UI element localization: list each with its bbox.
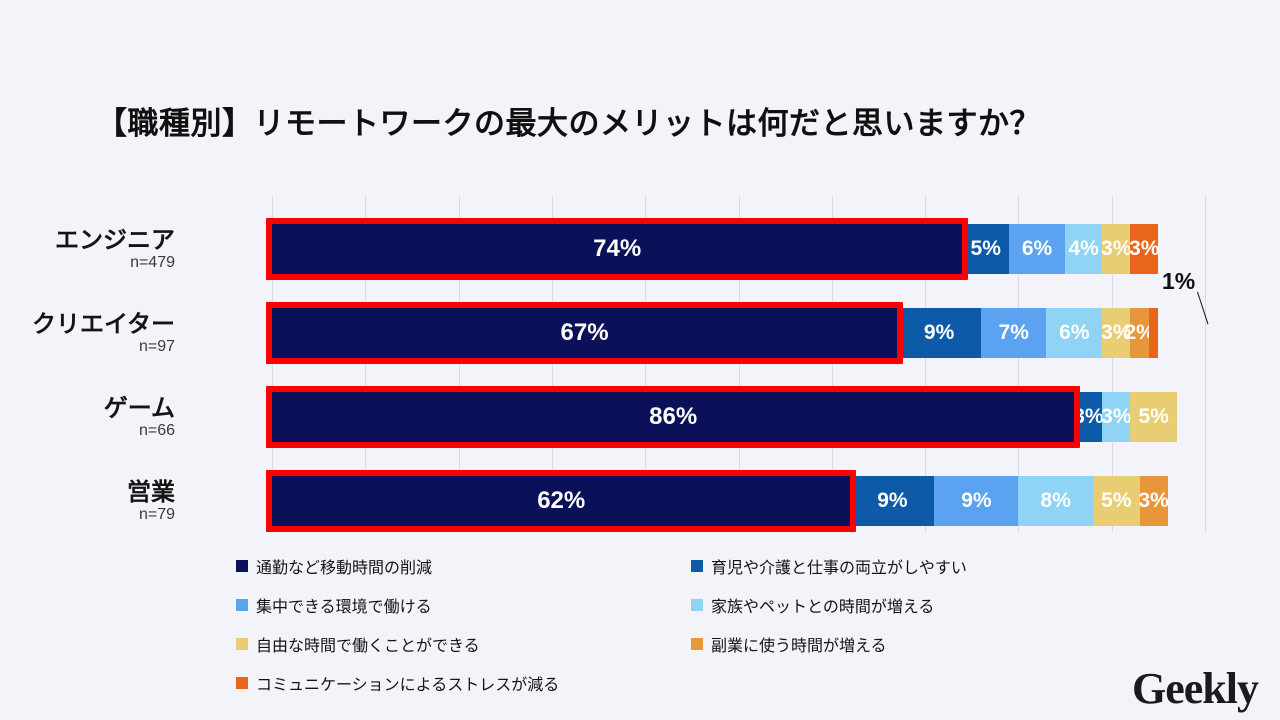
legend-item-family[interactable]: 家族やペットとの時間が増える: [691, 593, 934, 617]
category-name: クリエイター: [0, 312, 175, 337]
stacked-bar[interactable]: 62%9%9%8%5%3%: [272, 476, 1205, 526]
bar-row: クリエイターn=9767%9%7%6%3%2%: [272, 294, 1205, 358]
legend-row: コミュニケーションによるストレスが減る: [236, 671, 1036, 710]
bar-segment-commute[interactable]: 62%: [272, 476, 850, 526]
legend-swatch-icon: [236, 560, 248, 572]
gridline: [1205, 196, 1206, 532]
row-category-label: 営業n=79: [0, 480, 175, 524]
legend-item-communication[interactable]: コミュニケーションによるストレスが減る: [236, 671, 691, 695]
bar-segment-childcare[interactable]: 5%: [962, 224, 1009, 274]
legend-item-focus[interactable]: 集中できる環境で働ける: [236, 593, 691, 617]
bar-segment-family[interactable]: 6%: [1046, 308, 1102, 358]
legend-row: 通勤など移動時間の削減育児や介護と仕事の両立がしやすい: [236, 554, 1036, 593]
bar-segment-freetime[interactable]: 5%: [1130, 392, 1177, 442]
brand-logo: Geekly: [1132, 663, 1258, 714]
legend-label: 集中できる環境で働ける: [256, 593, 432, 617]
legend-label: 家族やペットとの時間が増える: [711, 593, 934, 617]
legend-label: 通勤など移動時間の削減: [256, 554, 432, 578]
bar-row: エンジニアn=47974%5%6%4%3%3%: [272, 210, 1205, 274]
bar-segment-family[interactable]: 8%: [1018, 476, 1093, 526]
bar-segment-freetime[interactable]: 5%: [1093, 476, 1140, 526]
row-category-label: クリエイターn=97: [0, 312, 175, 356]
bar-segment-commute[interactable]: 67%: [272, 308, 897, 358]
sample-size: n=479: [0, 253, 175, 272]
legend-label: 自由な時間で働くことができる: [256, 632, 480, 656]
legend-swatch-icon: [691, 599, 703, 611]
bar-segment-commute[interactable]: 86%: [272, 392, 1074, 442]
category-name: 営業: [0, 480, 175, 505]
legend-item-childcare[interactable]: 育児や介護と仕事の両立がしやすい: [691, 554, 967, 578]
legend-swatch-icon: [236, 599, 248, 611]
legend-swatch-icon: [236, 638, 248, 650]
sample-size: n=66: [0, 421, 175, 440]
legend-item-commute[interactable]: 通勤など移動時間の削減: [236, 554, 691, 578]
bar-segment-childcare[interactable]: 9%: [897, 308, 981, 358]
bar-segment-sidejob[interactable]: 2%: [1130, 308, 1149, 358]
bar-segment-childcare[interactable]: 9%: [850, 476, 934, 526]
sample-size: n=79: [0, 505, 175, 524]
bar-segment-freetime[interactable]: 3%: [1102, 224, 1130, 274]
legend-label: コミュニケーションによるストレスが減る: [256, 671, 559, 695]
chart-page: 【職種別】リモートワークの最大のメリットは何だと思いますか？ エンジニアn=47…: [0, 0, 1280, 720]
stacked-bar[interactable]: 67%9%7%6%3%2%: [272, 308, 1205, 358]
row-category-label: ゲームn=66: [0, 396, 175, 440]
legend-item-sidejob[interactable]: 副業に使う時間が増える: [691, 632, 887, 656]
category-name: エンジニア: [0, 228, 175, 253]
chart-area: エンジニアn=47974%5%6%4%3%3%クリエイターn=9767%9%7%…: [0, 196, 1280, 532]
stacked-bar[interactable]: 74%5%6%4%3%3%: [272, 224, 1205, 274]
stacked-bar[interactable]: 86%3%3%5%: [272, 392, 1205, 442]
bar-segment-sidejob[interactable]: 3%: [1140, 476, 1168, 526]
legend-label: 育児や介護と仕事の両立がしやすい: [711, 554, 967, 578]
bar-segment-commute[interactable]: 74%: [272, 224, 962, 274]
bar-segment-childcare[interactable]: 3%: [1074, 392, 1102, 442]
bar-segment-family[interactable]: 3%: [1102, 392, 1130, 442]
bar-segment-communication[interactable]: 3%: [1130, 224, 1158, 274]
sample-size: n=97: [0, 337, 175, 356]
legend: 通勤など移動時間の削減育児や介護と仕事の両立がしやすい集中できる環境で働ける家族…: [236, 554, 1036, 710]
legend-item-freetime[interactable]: 自由な時間で働くことができる: [236, 632, 691, 656]
row-category-label: エンジニアn=479: [0, 228, 175, 272]
legend-swatch-icon: [236, 677, 248, 689]
bar-segment-focus[interactable]: 6%: [1009, 224, 1065, 274]
bar-row: 営業n=7962%9%9%8%5%3%: [272, 462, 1205, 526]
bar-segment-communication[interactable]: [1149, 308, 1158, 358]
legend-label: 副業に使う時間が増える: [711, 632, 887, 656]
bar-segment-family[interactable]: 4%: [1065, 224, 1102, 274]
legend-row: 集中できる環境で働ける家族やペットとの時間が増える: [236, 593, 1036, 632]
page-title: 【職種別】リモートワークの最大のメリットは何だと思いますか？: [96, 98, 1041, 143]
callout-label-1pct: 1%: [1162, 268, 1195, 295]
bar-row: ゲームn=6686%3%3%5%: [272, 378, 1205, 442]
legend-row: 自由な時間で働くことができる副業に使う時間が増える: [236, 632, 1036, 671]
category-name: ゲーム: [0, 396, 175, 421]
legend-swatch-icon: [691, 560, 703, 572]
legend-swatch-icon: [691, 638, 703, 650]
bar-segment-focus[interactable]: 9%: [934, 476, 1018, 526]
plot-area: エンジニアn=47974%5%6%4%3%3%クリエイターn=9767%9%7%…: [272, 196, 1205, 532]
bar-segment-focus[interactable]: 7%: [981, 308, 1046, 358]
